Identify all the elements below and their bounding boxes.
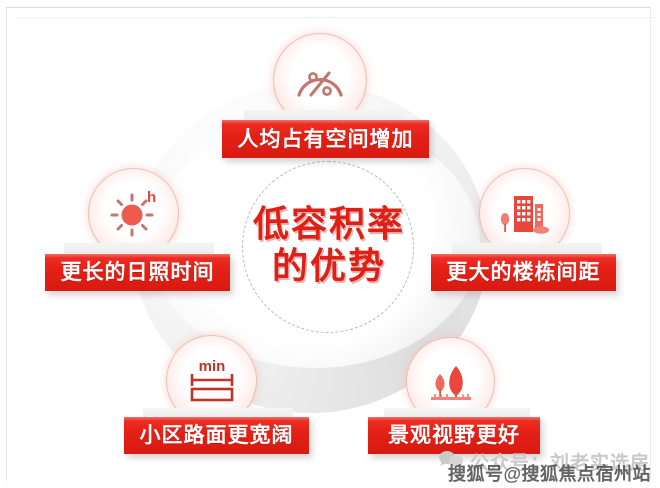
node-road-label[interactable]: 小区路面更宽阔 [124, 417, 309, 454]
sohu-watermark: 搜狐号@搜狐焦点宿州站 [448, 460, 651, 486]
node-sunlight-label[interactable]: 更长的日照时间 [45, 254, 230, 291]
node-spacing-label[interactable]: 更大的楼栋间距 [431, 254, 616, 291]
svg-text:min: min [198, 358, 225, 375]
page-title: 低容积率 的优势 [231, 203, 427, 287]
svg-text:h: h [147, 189, 156, 206]
node-road-label-text: 小区路面更宽阔 [140, 425, 294, 446]
center-title-line1: 低容积率 [253, 203, 405, 244]
node-sunlight-label-text: 更长的日照时间 [61, 262, 215, 283]
node-spacing-label-text: 更大的楼栋间距 [447, 262, 601, 283]
banner-sheen [368, 417, 540, 421]
node-space-label-text: 人均占有空间增加 [238, 129, 414, 150]
infographic-canvas: 低容积率 的优势 人均占有空间增加 [0, 0, 660, 488]
banner-sheen [45, 254, 230, 258]
banner-sheen [222, 120, 429, 124]
node-view-label-text: 景观视野更好 [388, 425, 520, 446]
node-space-label[interactable]: 人均占有空间增加 [222, 120, 429, 158]
banner-sheen [431, 254, 616, 258]
banner-sheen [124, 417, 309, 421]
center-title-line2: 的优势 [231, 245, 427, 287]
